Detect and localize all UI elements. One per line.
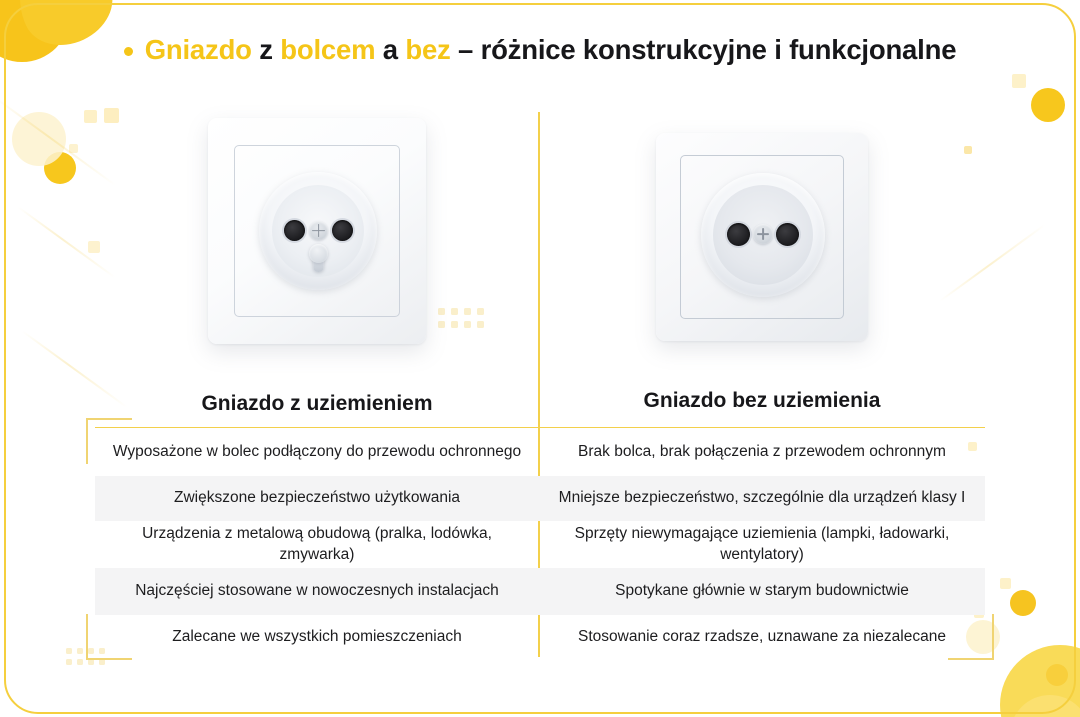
decorative-square-pale-b: [104, 108, 119, 123]
socket-plate-right: [656, 133, 868, 341]
column-header-left: Gniazdo z uziemieniem: [95, 392, 539, 416]
page-title-row: Gniazdo z bolcem a bez – różnice konstru…: [0, 34, 1080, 66]
decorative-dot-pale-left: [12, 112, 66, 166]
socket-cup-left: [259, 172, 377, 290]
table-row: Wyposażone w bolec podłączony do przewod…: [95, 427, 985, 476]
title-word-bolcem: bolcem: [280, 34, 375, 65]
socket-center-screw-left: [309, 221, 328, 240]
bullet-dot-icon: [124, 47, 133, 56]
decorative-streak-b: [17, 206, 115, 278]
socket-plate-left: [208, 118, 426, 344]
table-cell-left: Urządzenia z metalową obudową (pralka, l…: [95, 521, 539, 568]
table-cell-left: Zwiększone bezpieczeństwo użytkowania: [95, 476, 539, 521]
decorative-streak-a: [0, 96, 116, 186]
decorative-dot-top-right: [1031, 88, 1065, 122]
socket-with-earth-illustration: [208, 118, 426, 344]
socket-center-screw-right: [753, 224, 773, 244]
decorative-square-pale-e: [1012, 74, 1026, 88]
page-title: Gniazdo z bolcem a bez – różnice konstru…: [145, 34, 957, 66]
decorative-dot-left-upper: [44, 152, 76, 184]
title-word-bez: bez: [405, 34, 450, 65]
decorative-dot-bottom-left: [1046, 664, 1068, 686]
table-row: Zwiększone bezpieczeństwo użytkowania Mn…: [95, 476, 985, 521]
socket-hole-left-1: [284, 220, 305, 241]
decorative-circle-bottom-right: [1000, 645, 1080, 717]
table-row: Zalecane we wszystkich pomieszczeniach S…: [95, 615, 985, 660]
decorative-square-pale-a: [84, 110, 97, 123]
table-cell-left: Najczęściej stosowane w nowoczesnych ins…: [95, 568, 539, 615]
table-row: Najczęściej stosowane w nowoczesnych ins…: [95, 568, 985, 615]
decorative-square-pale-f: [964, 146, 972, 154]
table-cell-left: Zalecane we wszystkich pomieszczeniach: [95, 615, 539, 660]
table-cell-left: Wyposażone w bolec podłączony do przewod…: [95, 428, 539, 476]
socket-cup-right: [701, 173, 825, 297]
table-cell-right: Sprzęty niewymagające uziemienia (lampki…: [539, 521, 985, 568]
decorative-circle-bottom-right-small: [1010, 695, 1080, 717]
infographic-canvas: Gniazdo z bolcem a bez – różnice konstru…: [0, 0, 1080, 717]
table-cell-right: Stosowanie coraz rzadsze, uznawane za ni…: [539, 615, 985, 660]
decorative-square-pale-c: [88, 241, 100, 253]
title-tail: – różnice konstrukcyjne i funkcjonalne: [458, 34, 956, 65]
decorative-square-pale-d: [69, 144, 78, 153]
table-cell-right: Mniejsze bezpieczeństwo, szczególnie dla…: [539, 476, 985, 521]
decorative-square-pale-h: [1000, 578, 1011, 589]
decorative-dot-grid-center: [438, 308, 484, 328]
socket-hole-right-2: [776, 223, 799, 246]
title-word-z: z: [259, 34, 273, 65]
socket-hole-right-1: [727, 223, 750, 246]
title-word-a: a: [383, 34, 398, 65]
table-cell-right: Brak bolca, brak połączenia z przewodem …: [539, 428, 985, 476]
socket-without-earth-illustration: [656, 133, 868, 341]
column-header-right: Gniazdo bez uziemienia: [539, 389, 985, 413]
socket-earth-pin-head-left: [309, 244, 328, 263]
decorative-dot-bottom-right: [1010, 590, 1036, 616]
decorative-streak-d: [939, 224, 1045, 302]
socket-hole-left-2: [332, 220, 353, 241]
table-cell-right: Spotykane głównie w starym budownictwie: [539, 568, 985, 615]
table-row: Urządzenia z metalową obudową (pralka, l…: [95, 521, 985, 568]
title-word-gniazdo: Gniazdo: [145, 34, 252, 65]
comparison-table: Wyposażone w bolec podłączony do przewod…: [95, 427, 985, 660]
